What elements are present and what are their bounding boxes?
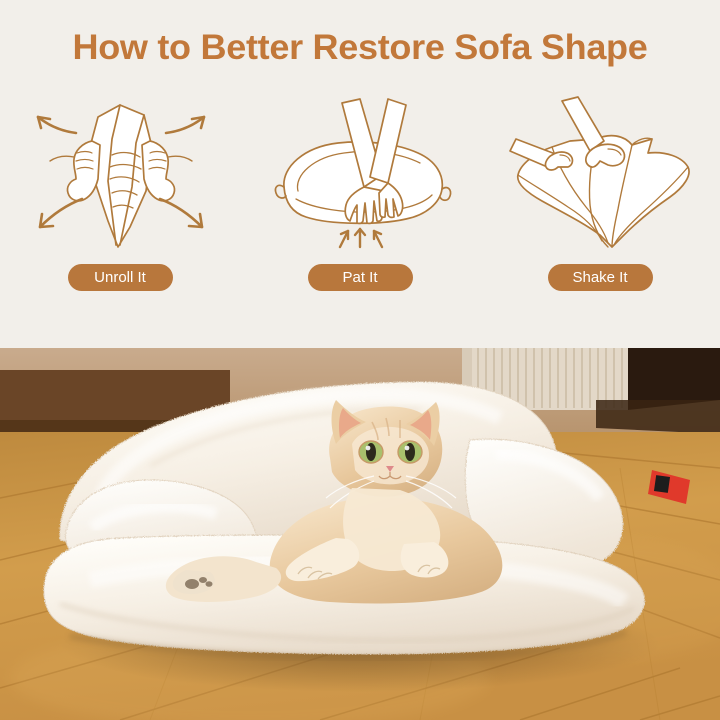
product-photo (0, 348, 720, 720)
step-pat-it[interactable]: Pat It (240, 95, 480, 305)
step-label-pat-it[interactable]: Pat It (308, 264, 413, 291)
promo-infographic: How to Better Restore Sofa Shape (0, 0, 720, 720)
steps-row: Unroll It (0, 95, 720, 305)
step-label-shake-it[interactable]: Shake It (548, 264, 653, 291)
hands-unrolling-fabric-icon (20, 95, 220, 255)
instruction-panel: How to Better Restore Sofa Shape (0, 0, 720, 348)
hands-shaking-fabric-icon (500, 95, 700, 255)
step-shake-it[interactable]: Shake It (480, 95, 720, 305)
cat-front-leg-right (401, 542, 449, 577)
page-title: How to Better Restore Sofa Shape (0, 26, 720, 70)
step-label-unroll-it[interactable]: Unroll It (68, 264, 173, 291)
hands-patting-cushion-icon (260, 95, 460, 255)
step-unroll-it[interactable]: Unroll It (0, 95, 240, 305)
